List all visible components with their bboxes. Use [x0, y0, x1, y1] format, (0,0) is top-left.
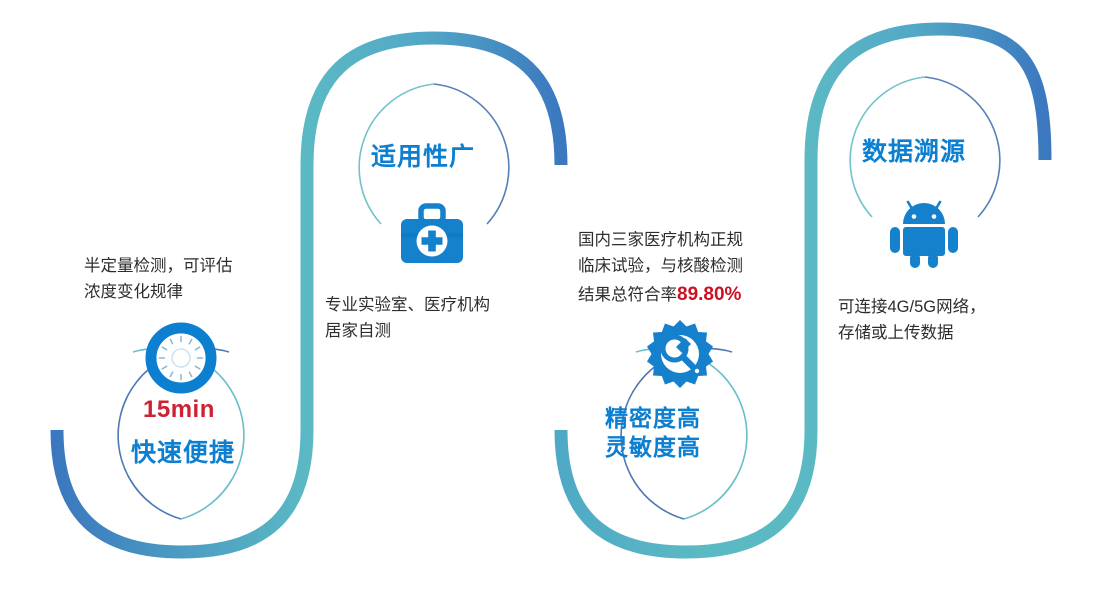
section-3-body: 国内三家医疗机构正规 临床试验，与核酸检测 结果总符合率89.80%	[578, 227, 743, 310]
section-1-title: 快速便捷	[131, 433, 235, 469]
section-3-body-line-3: 结果总符合率89.80%	[578, 280, 743, 310]
section-1-metric: 15min	[143, 396, 215, 424]
gear-wrench-icon	[645, 318, 715, 393]
section-4-body-line-2: 存储或上传数据	[838, 320, 986, 346]
section-3-title-line-2: 灵敏度高	[605, 433, 701, 462]
section-1-body-line-1: 半定量检测，可评估	[84, 253, 233, 279]
section-3-title: 精密度高 灵敏度高	[605, 404, 701, 463]
section-2-body: 专业实验室、医疗机构 居家自测	[325, 292, 490, 345]
android-robot-icon	[887, 198, 961, 273]
section-2-title: 适用性广	[371, 137, 475, 173]
section-2-body-line-1: 专业实验室、医疗机构	[325, 292, 490, 318]
section-2-title-line-1: 适用性广	[371, 137, 475, 173]
infographic-canvas: 半定量检测，可评估 浓度变化规律	[0, 0, 1101, 615]
section-1-body-line-2: 浓度变化规律	[84, 279, 233, 305]
section-3-title-line-1: 精密度高	[605, 404, 701, 433]
section-3-body-line-1: 国内三家医疗机构正规	[578, 227, 743, 253]
medical-kit-icon	[397, 203, 467, 272]
section-4-body: 可连接4G/5G网络， 存储或上传数据	[838, 294, 986, 347]
section-4-title: 数据溯源	[862, 132, 966, 168]
section-1-title-line-1: 快速便捷	[131, 433, 235, 469]
section-1-body: 半定量检测，可评估 浓度变化规律	[84, 253, 233, 306]
section-4-title-line-1: 数据溯源	[862, 132, 966, 168]
section-4-body-line-1: 可连接4G/5G网络，	[838, 294, 986, 320]
section-3-highlight-value: 89.80%	[677, 284, 741, 305]
clock-icon	[145, 322, 217, 399]
section-3-body-prefix: 结果总符合率	[578, 286, 677, 304]
section-2-body-line-2: 居家自测	[325, 318, 490, 344]
section-3-body-line-2: 临床试验，与核酸检测	[578, 253, 743, 279]
